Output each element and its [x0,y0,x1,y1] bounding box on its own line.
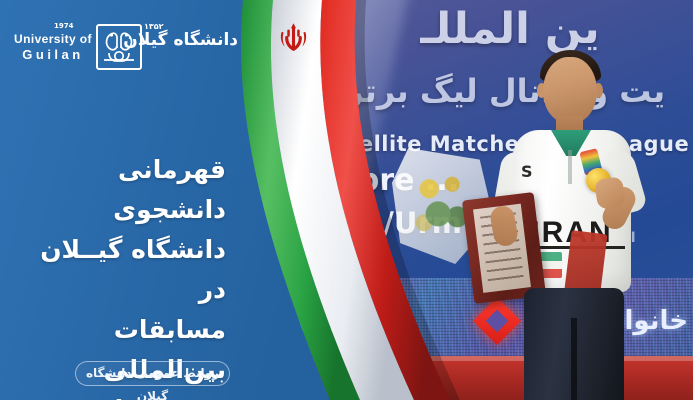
athlete-head [543,57,597,123]
athlete-right-hand [594,176,626,210]
athlete-leg-gap [571,318,577,400]
logo-english-line2: Guilan [14,47,92,63]
headline-line-4: شمشیربازی [12,390,226,400]
jersey-placket [568,150,572,184]
news-banner: ین المللـ یت و ...نال لیگ برتر Satellite… [0,0,693,400]
headline-line-2: دانشگاه گیــلان در [12,230,226,310]
jersey-brand-logo: S [521,162,536,179]
headline-line-1: قهرمانی دانشجوی [12,150,226,230]
university-logo[interactable]: 1974 University of Guilan [14,24,226,70]
logo-year-gregorian: 1974 [54,22,73,30]
left-text-panel: 1974 University of Guilan [0,0,240,400]
logo-persian-name: دانشگاه گیلان [146,30,238,50]
logo-english-name: University of Guilan [14,32,92,63]
logo-english-line1: University of [14,32,92,47]
public-relations-badge[interactable]: روابط عمومی دانشگاه گیلان [75,361,230,386]
